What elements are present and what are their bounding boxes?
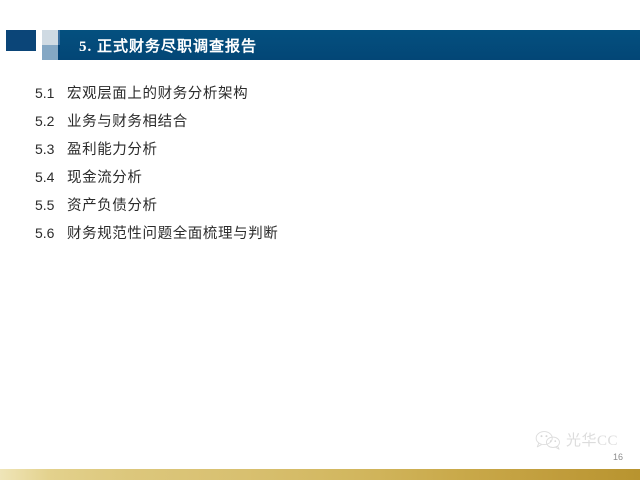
- list-item: 5.3 盈利能力分析: [35, 138, 595, 166]
- list-item-label: 业务与财务相结合: [67, 110, 188, 131]
- page-number: 16: [613, 452, 623, 462]
- list-item-number: 5.5: [35, 197, 67, 213]
- list-item-number: 5.6: [35, 225, 67, 241]
- list-item-label: 现金流分析: [67, 166, 143, 187]
- wechat-logo-icon: [535, 430, 561, 450]
- list-item: 5.4 现金流分析: [35, 166, 595, 194]
- agenda-list: 5.1 宏观层面上的财务分析架构 5.2 业务与财务相结合 5.3 盈利能力分析…: [35, 82, 595, 250]
- bottom-accent-bar: [0, 469, 640, 480]
- list-item-label: 宏观层面上的财务分析架构: [67, 82, 248, 103]
- list-item: 5.5 资产负债分析: [35, 194, 595, 222]
- slide-title-bar: 5. 正式财务尽职调查报告: [60, 30, 640, 60]
- list-item-number: 5.2: [35, 113, 67, 129]
- decor-cell-top-left: [42, 30, 58, 45]
- list-item-number: 5.1: [35, 85, 67, 101]
- list-item: 5.2 业务与财务相结合: [35, 110, 595, 138]
- list-item-label: 资产负债分析: [67, 194, 158, 215]
- list-item: 5.1 宏观层面上的财务分析架构: [35, 82, 595, 110]
- list-item: 5.6 财务规范性问题全面梳理与判断: [35, 222, 595, 250]
- list-item-number: 5.3: [35, 141, 67, 157]
- list-item-label: 盈利能力分析: [67, 138, 158, 159]
- decor-square-navy: [6, 30, 36, 51]
- page-title: 5. 正式财务尽职调查报告: [79, 35, 257, 56]
- watermark: 光华CC: [535, 429, 618, 450]
- watermark-text: 光华CC: [566, 429, 618, 450]
- list-item-label: 财务规范性问题全面梳理与判断: [67, 222, 278, 243]
- list-item-number: 5.4: [35, 169, 67, 185]
- decor-cell-bottom-left: [42, 45, 58, 60]
- presentation-slide: 5. 正式财务尽职调查报告 5.1 宏观层面上的财务分析架构 5.2 业务与财务…: [0, 0, 640, 480]
